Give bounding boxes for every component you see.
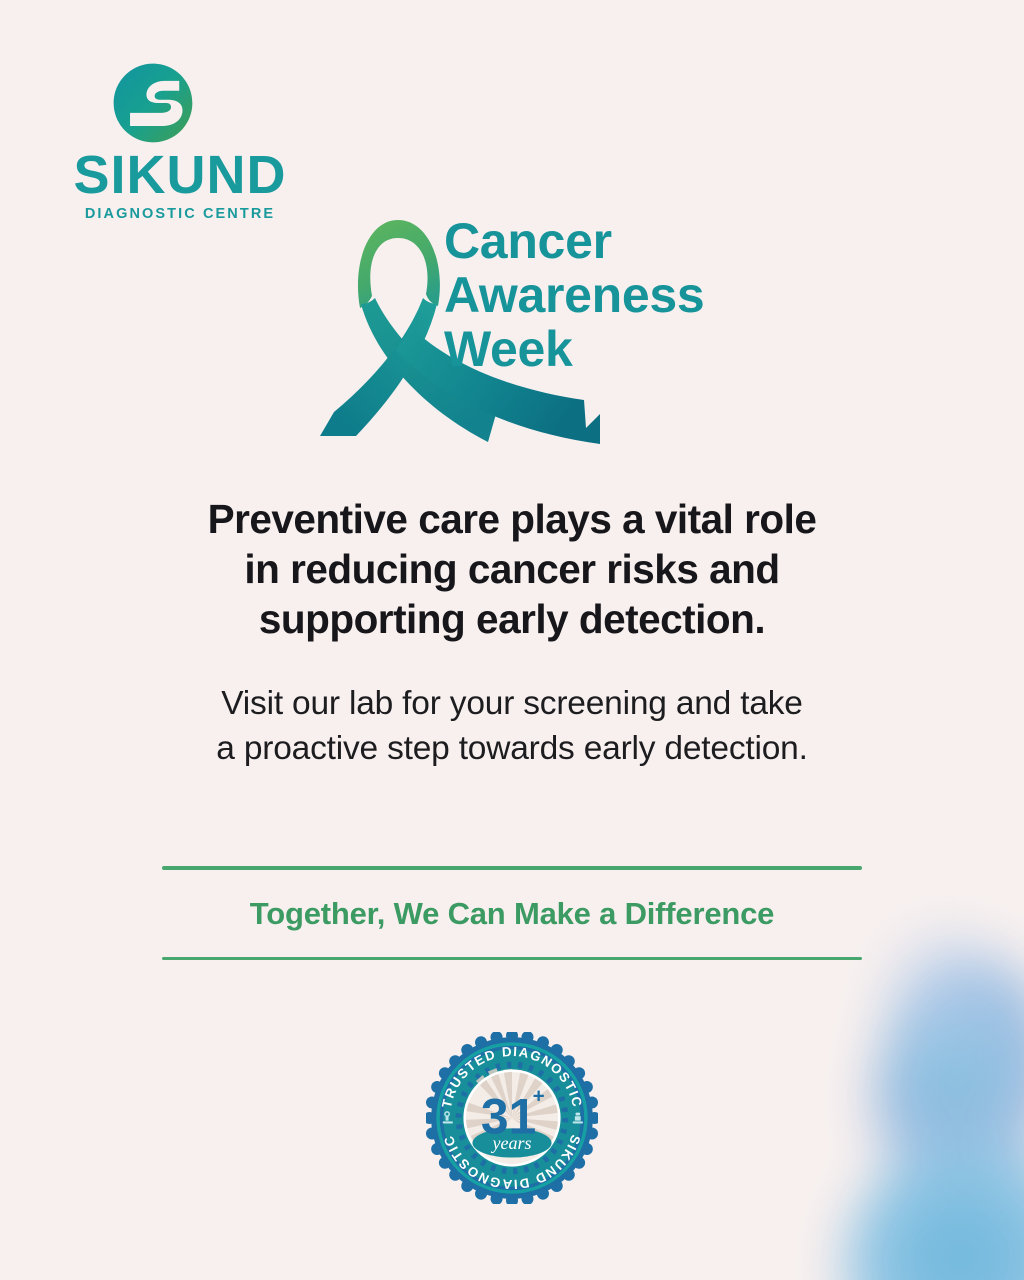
hero-title-line-3: Week <box>444 322 704 376</box>
brand-tagline: DIAGNOSTIC CENTRE <box>50 206 310 222</box>
hero-title-line-2: Awareness <box>444 268 704 322</box>
subheadline-line-2: a proactive step towards early detection… <box>100 727 924 772</box>
badge-years-word: years <box>490 1133 531 1153</box>
headline-line-1: Preventive care plays a vital role <box>90 494 934 544</box>
hero-section: Cancer Awareness Week <box>0 196 1024 476</box>
headline-line-3: supporting early detection. <box>90 594 934 644</box>
tagline-section: Together, We Can Make a Difference <box>162 866 862 960</box>
brand-logo: SIKUND DIAGNOSTIC CENTRE <box>50 62 310 222</box>
badge-section: TRUSTED DIAGNOSTIC SIKUND DIAGNOSTIC <box>0 1032 1024 1209</box>
headline-line-2: in reducing cancer risks and <box>90 544 934 594</box>
badge-years-plus: + <box>533 1085 545 1108</box>
subheadline-line-1: Visit our lab for your screening and tak… <box>100 682 924 727</box>
hero-title: Cancer Awareness Week <box>444 214 704 376</box>
subheadline: Visit our lab for your screening and tak… <box>0 682 1024 771</box>
brand-name: SIKUND <box>50 148 310 202</box>
hero-title-line-1: Cancer <box>444 214 704 268</box>
sikund-circle-s-logo-icon <box>112 62 194 144</box>
headline: Preventive care plays a vital role in re… <box>0 494 1024 645</box>
divider-bottom <box>162 957 862 961</box>
tagline-text: Together, We Can Make a Difference <box>162 870 862 957</box>
trusted-diagnostic-seal-badge-icon: TRUSTED DIAGNOSTIC SIKUND DIAGNOSTIC <box>426 1032 598 1204</box>
poster-canvas: SIKUND DIAGNOSTIC CENTRE <box>0 0 1024 1280</box>
